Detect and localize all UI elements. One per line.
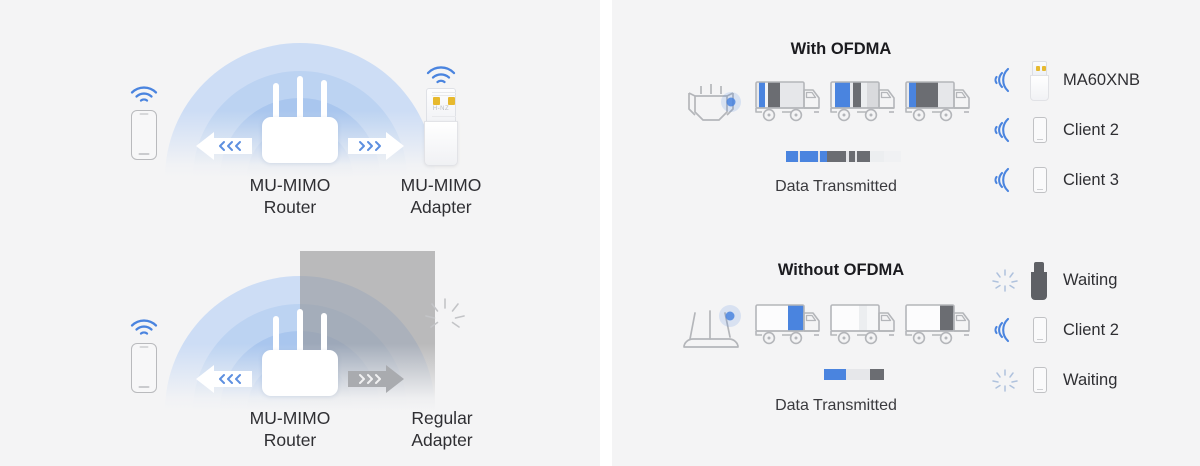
bar-segment bbox=[870, 369, 884, 380]
data-transmitted-bar bbox=[824, 369, 884, 380]
list-item: Waiting bbox=[990, 263, 1117, 297]
bar-segment bbox=[884, 151, 901, 162]
router-3-antenna-icon bbox=[675, 299, 747, 355]
caption-line-1: MU-MIMO bbox=[376, 174, 506, 196]
truck-icon bbox=[752, 78, 824, 130]
list-item: Client 3 bbox=[990, 163, 1119, 197]
burst-no-signal-icon bbox=[422, 295, 468, 335]
caption-line-2: Router bbox=[200, 429, 380, 451]
phone-icon bbox=[1026, 164, 1052, 196]
caption-line-1: MU-MIMO bbox=[200, 174, 380, 196]
router-3-antenna-icon bbox=[262, 78, 338, 163]
data-transmitted-bar bbox=[786, 151, 901, 162]
caption-line-1: Regular bbox=[382, 407, 502, 429]
arrow-left-chevrons-icon bbox=[196, 132, 252, 160]
phone-icon bbox=[1026, 364, 1052, 396]
caption-line-2: Router bbox=[200, 196, 380, 218]
caption-line-1: MU-MIMO bbox=[200, 407, 380, 429]
router-wifi6-icon bbox=[675, 78, 747, 130]
caption-adapter: MU-MIMO Adapter bbox=[376, 174, 506, 218]
truck-icon bbox=[827, 301, 899, 353]
arrow-right-chevrons-icon bbox=[348, 132, 404, 160]
panel-divider bbox=[600, 0, 612, 466]
bar-segment bbox=[786, 151, 798, 162]
phone-icon bbox=[131, 110, 157, 160]
arrow-left-chevrons-icon bbox=[196, 365, 252, 393]
caption-adapter: Regular Adapter bbox=[382, 407, 502, 451]
section-without-ofdma: Without OFDMA bbox=[612, 233, 1200, 466]
client-label: Client 3 bbox=[1063, 171, 1119, 190]
bar-segment bbox=[800, 151, 817, 162]
arrow-right-chevrons-icon bbox=[348, 365, 404, 393]
caption-router: MU-MIMO Router bbox=[200, 407, 380, 451]
truck-icon bbox=[752, 301, 824, 353]
wifi-signal-icon bbox=[990, 317, 1020, 343]
left-panel: H-NZ MU-MIMO Router MU-MIMO Adapter bbox=[0, 0, 600, 466]
wifi-signal-icon bbox=[424, 62, 458, 86]
bar-segment bbox=[827, 151, 846, 162]
truck-icon bbox=[827, 78, 899, 130]
usb-adapter-dark-icon bbox=[1026, 264, 1052, 296]
client-label: Waiting bbox=[1063, 371, 1117, 390]
client-label: Client 2 bbox=[1063, 321, 1119, 340]
bar-segment bbox=[857, 151, 870, 162]
list-item: MA60XNB bbox=[990, 63, 1140, 97]
caption-line-2: Adapter bbox=[382, 429, 502, 451]
section-title: With OFDMA bbox=[612, 40, 1200, 59]
truck-icon bbox=[902, 78, 974, 130]
scene-mu-mimo-regular-adapter: MU-MIMO Router Regular Adapter bbox=[0, 233, 600, 466]
section-with-ofdma: With OFDMA bbox=[612, 0, 1200, 233]
list-item: Waiting bbox=[990, 363, 1117, 397]
bar-segment bbox=[824, 369, 846, 380]
caption-line-2: Adapter bbox=[376, 196, 506, 218]
wifi-signal-icon bbox=[128, 315, 160, 337]
usb-adapter-icon: H-NZ bbox=[424, 88, 458, 166]
list-item: Client 2 bbox=[990, 313, 1119, 347]
phone-icon bbox=[1026, 314, 1052, 346]
phone-icon bbox=[131, 343, 157, 393]
caption-router: MU-MIMO Router bbox=[200, 174, 380, 218]
burst-no-signal-icon bbox=[990, 267, 1020, 293]
usb-adapter-icon bbox=[1026, 64, 1052, 96]
burst-no-signal-icon bbox=[990, 367, 1020, 393]
infographic-canvas: H-NZ MU-MIMO Router MU-MIMO Adapter bbox=[0, 0, 1200, 466]
router-3-antenna-icon bbox=[262, 311, 338, 396]
client-label: MA60XNB bbox=[1063, 71, 1140, 90]
list-item: Client 2 bbox=[990, 113, 1119, 147]
wifi-signal-icon bbox=[990, 117, 1020, 143]
client-label: Waiting bbox=[1063, 271, 1117, 290]
data-transmitted-label: Data Transmitted bbox=[612, 397, 1200, 415]
scene-mu-mimo-adapter: H-NZ MU-MIMO Router MU-MIMO Adapter bbox=[0, 0, 600, 233]
wifi-signal-icon bbox=[990, 167, 1020, 193]
wifi-signal-icon bbox=[990, 67, 1020, 93]
bar-segment bbox=[870, 151, 883, 162]
bar-segment bbox=[846, 369, 870, 380]
usb-brand-text: H-NZ bbox=[427, 106, 455, 112]
right-panel: With OFDMA bbox=[612, 0, 1200, 466]
bar-segment bbox=[820, 151, 828, 162]
wifi-signal-icon bbox=[128, 82, 160, 104]
client-label: Client 2 bbox=[1063, 121, 1119, 140]
phone-icon bbox=[1026, 114, 1052, 146]
truck-icon bbox=[902, 301, 974, 353]
